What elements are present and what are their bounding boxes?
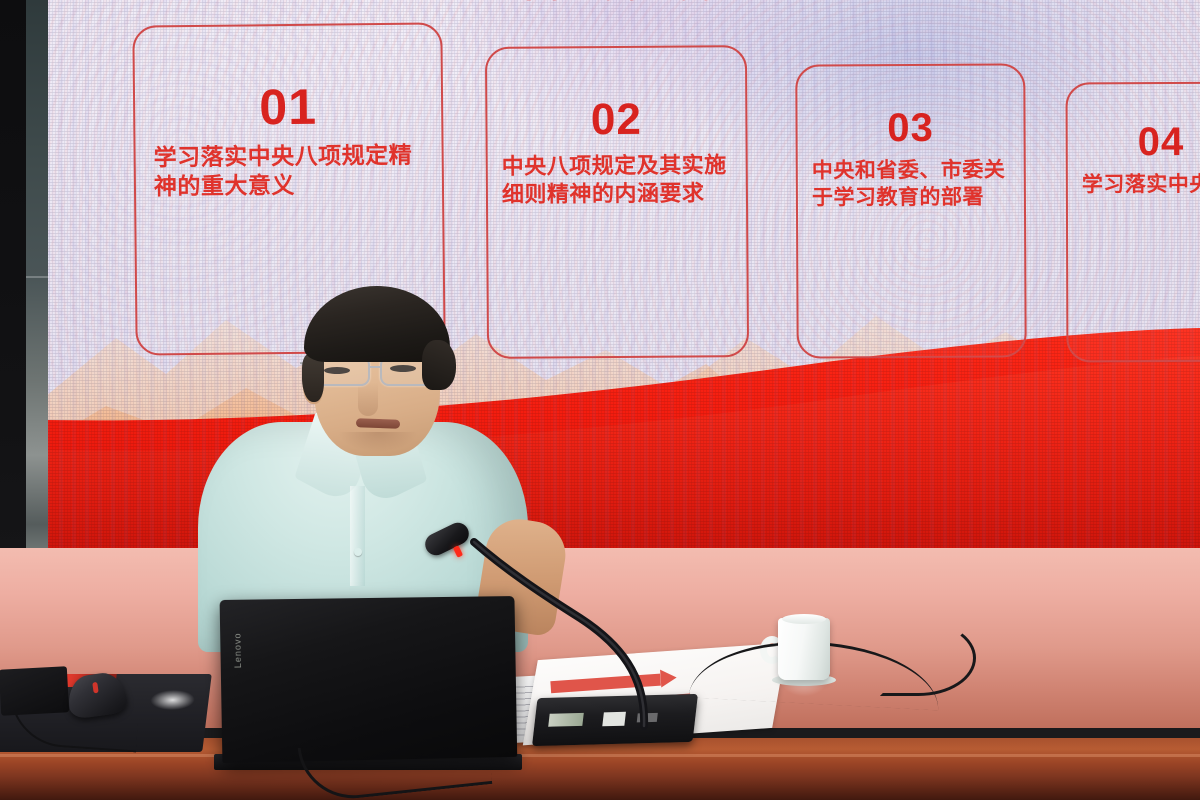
- contents-card-04[interactable]: 04 学习落实中央八项 规定精神，推动重 投发展稳步向前: [1066, 82, 1200, 363]
- mic-base-label-small: [637, 713, 658, 723]
- coffee-mug[interactable]: [778, 618, 830, 680]
- laptop-brand-logo: Lenovo: [232, 622, 243, 668]
- steelseries-logo-icon: [149, 690, 195, 710]
- chin-shadow: [338, 432, 418, 452]
- hair: [304, 286, 450, 362]
- glasses-bridge: [370, 366, 382, 368]
- card-number: 02: [501, 97, 731, 143]
- shirt-button: [354, 548, 362, 556]
- contents-card-03[interactable]: 03 中央和省委、市委关于学习教育的部署: [795, 63, 1027, 358]
- card-text: 学习落实中央八项 规定精神，推动重 投发展稳步向前: [1082, 172, 1200, 200]
- document-red-bar: [550, 674, 661, 694]
- secondary-device: [0, 666, 69, 715]
- shirt-placket: [350, 486, 365, 586]
- mic-base-label-qr: [548, 713, 584, 727]
- mouth: [356, 418, 400, 429]
- seated-speaker: [190, 152, 550, 652]
- card-text: 中央和省委、市委关于学习教育的部署: [812, 157, 1010, 212]
- card-number: 03: [811, 107, 1009, 148]
- mic-base-label: [602, 712, 626, 727]
- microphone-base-unit[interactable]: [532, 694, 698, 746]
- document-red-arrow: [660, 668, 677, 687]
- mouse-scroll-wheel[interactable]: [92, 682, 98, 694]
- conference-room-photo: contents 01 学习落实中央八项规定精神的重大意义 02 中央八项规定及…: [0, 0, 1200, 800]
- card-number: 04: [1082, 122, 1200, 163]
- card-number: 01: [149, 81, 428, 134]
